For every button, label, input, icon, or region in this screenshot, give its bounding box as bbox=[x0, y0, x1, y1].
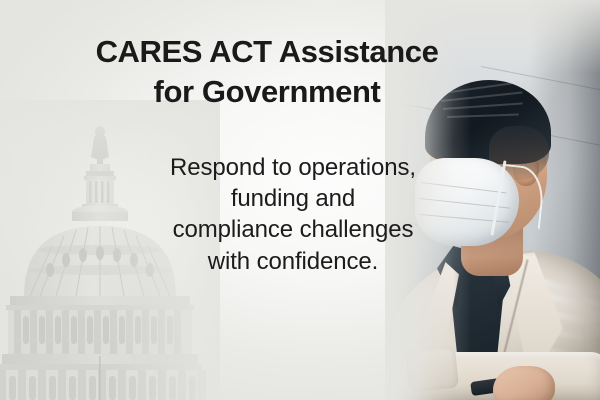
subheadline-line-4: with confidence. bbox=[103, 246, 483, 277]
subheadline-line-3: compliance challenges bbox=[103, 214, 483, 245]
headline: CARES ACT Assistance for Government bbox=[52, 32, 482, 111]
subheadline: Respond to operations, funding and compl… bbox=[103, 152, 483, 277]
text-layer: CARES ACT Assistance for Government Resp… bbox=[0, 0, 600, 400]
cares-act-banner: CARES ACT Assistance for Government Resp… bbox=[0, 0, 600, 400]
headline-line-2: for Government bbox=[52, 72, 482, 112]
subheadline-line-2: funding and bbox=[103, 183, 483, 214]
headline-line-1: CARES ACT Assistance bbox=[52, 32, 482, 72]
subheadline-line-1: Respond to operations, bbox=[103, 152, 483, 183]
